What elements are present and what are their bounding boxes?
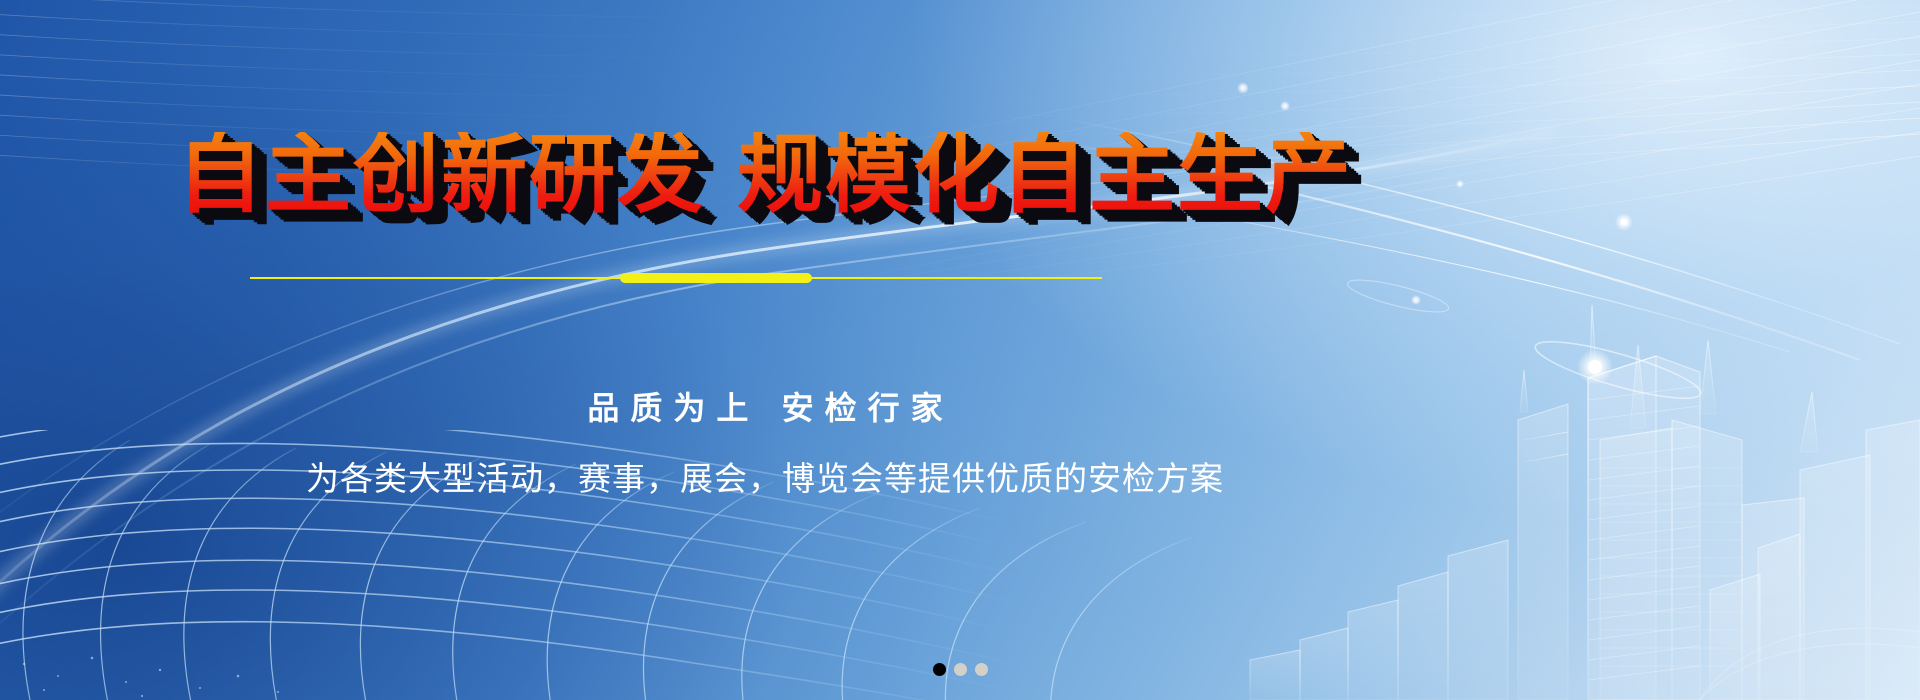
carousel-dot-2[interactable]	[954, 663, 967, 676]
yellow-divider	[250, 277, 1102, 279]
banner-slogan: 品质为上 安检行家	[0, 383, 1530, 429]
hero-banner-slide[interactable]: 自主创新研发 规模化自主生产 品质为上 安检行家 为各类大型活动，赛事，展会，博…	[0, 0, 1920, 700]
divider-thick-segment	[620, 273, 812, 283]
carousel-dot-1[interactable]	[933, 663, 946, 676]
carousel-pagination[interactable]	[0, 663, 1920, 676]
carousel-dot-3[interactable]	[975, 663, 988, 676]
banner-tagline: 为各类大型活动，赛事，展会，博览会等提供优质的安检方案	[0, 452, 1530, 500]
banner-main-title: 自主创新研发 规模化自主生产	[0, 132, 1530, 218]
